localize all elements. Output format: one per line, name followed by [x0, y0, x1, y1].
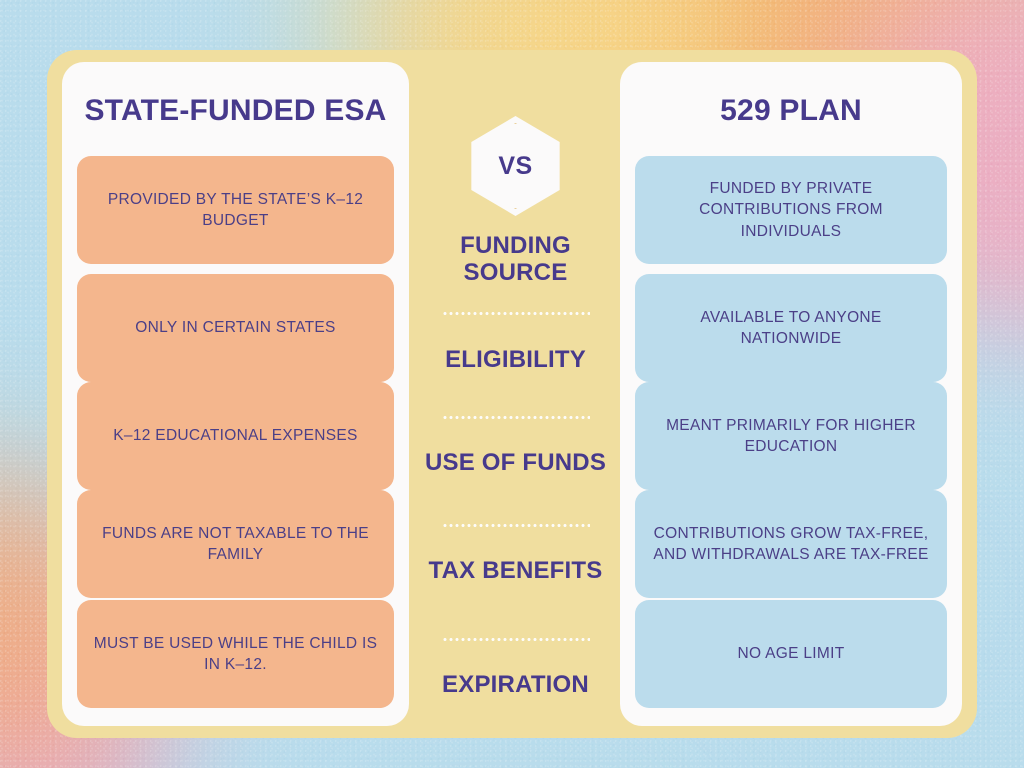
category-divider	[442, 638, 590, 641]
vs-badge-label: VS	[468, 116, 564, 216]
category-divider	[442, 524, 590, 527]
right-feature-use-of-funds: MEANT PRIMARILY FOR HIGHER EDUCATION	[635, 382, 947, 490]
left-feature-use-of-funds: K–12 EDUCATIONAL EXPENSES	[77, 382, 394, 490]
left-feature-tax-benefits: FUNDS ARE NOT TAXABLE TO THE FAMILY	[77, 490, 394, 598]
category-eligibility: ELIGIBILITY	[420, 331, 611, 389]
right-feature-eligibility: AVAILABLE TO ANYONE NATIONWIDE	[635, 274, 947, 382]
right-feature-expiration: NO AGE LIMIT	[635, 600, 947, 708]
left-feature-funding-source: PROVIDED BY THE STATE’S K–12 BUDGET	[77, 156, 394, 264]
right-feature-tax-benefits: CONTRIBUTIONS GROW TAX-FREE, AND WITHDRA…	[635, 490, 947, 598]
right-feature-funding-source: FUNDED BY PRIVATE CONTRIBUTIONS FROM IND…	[635, 156, 947, 264]
category-divider	[442, 312, 590, 315]
left-column-title: STATE-FUNDED ESA	[62, 94, 409, 128]
column-state-funded-esa: STATE-FUNDED ESA PROVIDED BY THE STATE’S…	[62, 62, 409, 726]
right-column-title: 529 PLAN	[620, 94, 962, 128]
left-feature-eligibility: ONLY IN CERTAIN STATES	[77, 274, 394, 382]
category-expiration: EXPIRATION	[420, 656, 611, 714]
background-gradient: STATE-FUNDED ESA PROVIDED BY THE STATE’S…	[0, 0, 1024, 768]
vs-badge: VS	[468, 116, 564, 216]
comparison-panel: STATE-FUNDED ESA PROVIDED BY THE STATE’S…	[47, 50, 977, 738]
column-categories: VS FUNDING SOURCE ELIGIBILITY USE OF FUN…	[420, 50, 611, 738]
column-529-plan: 529 PLAN FUNDED BY PRIVATE CONTRIBUTIONS…	[620, 62, 962, 726]
category-funding-source: FUNDING SOURCE	[420, 231, 611, 289]
category-use-of-funds: USE OF FUNDS	[420, 434, 611, 492]
left-feature-expiration: MUST BE USED WHILE THE CHILD IS IN K–12.	[77, 600, 394, 708]
category-tax-benefits: TAX BENEFITS	[420, 542, 611, 600]
category-divider	[442, 416, 590, 419]
